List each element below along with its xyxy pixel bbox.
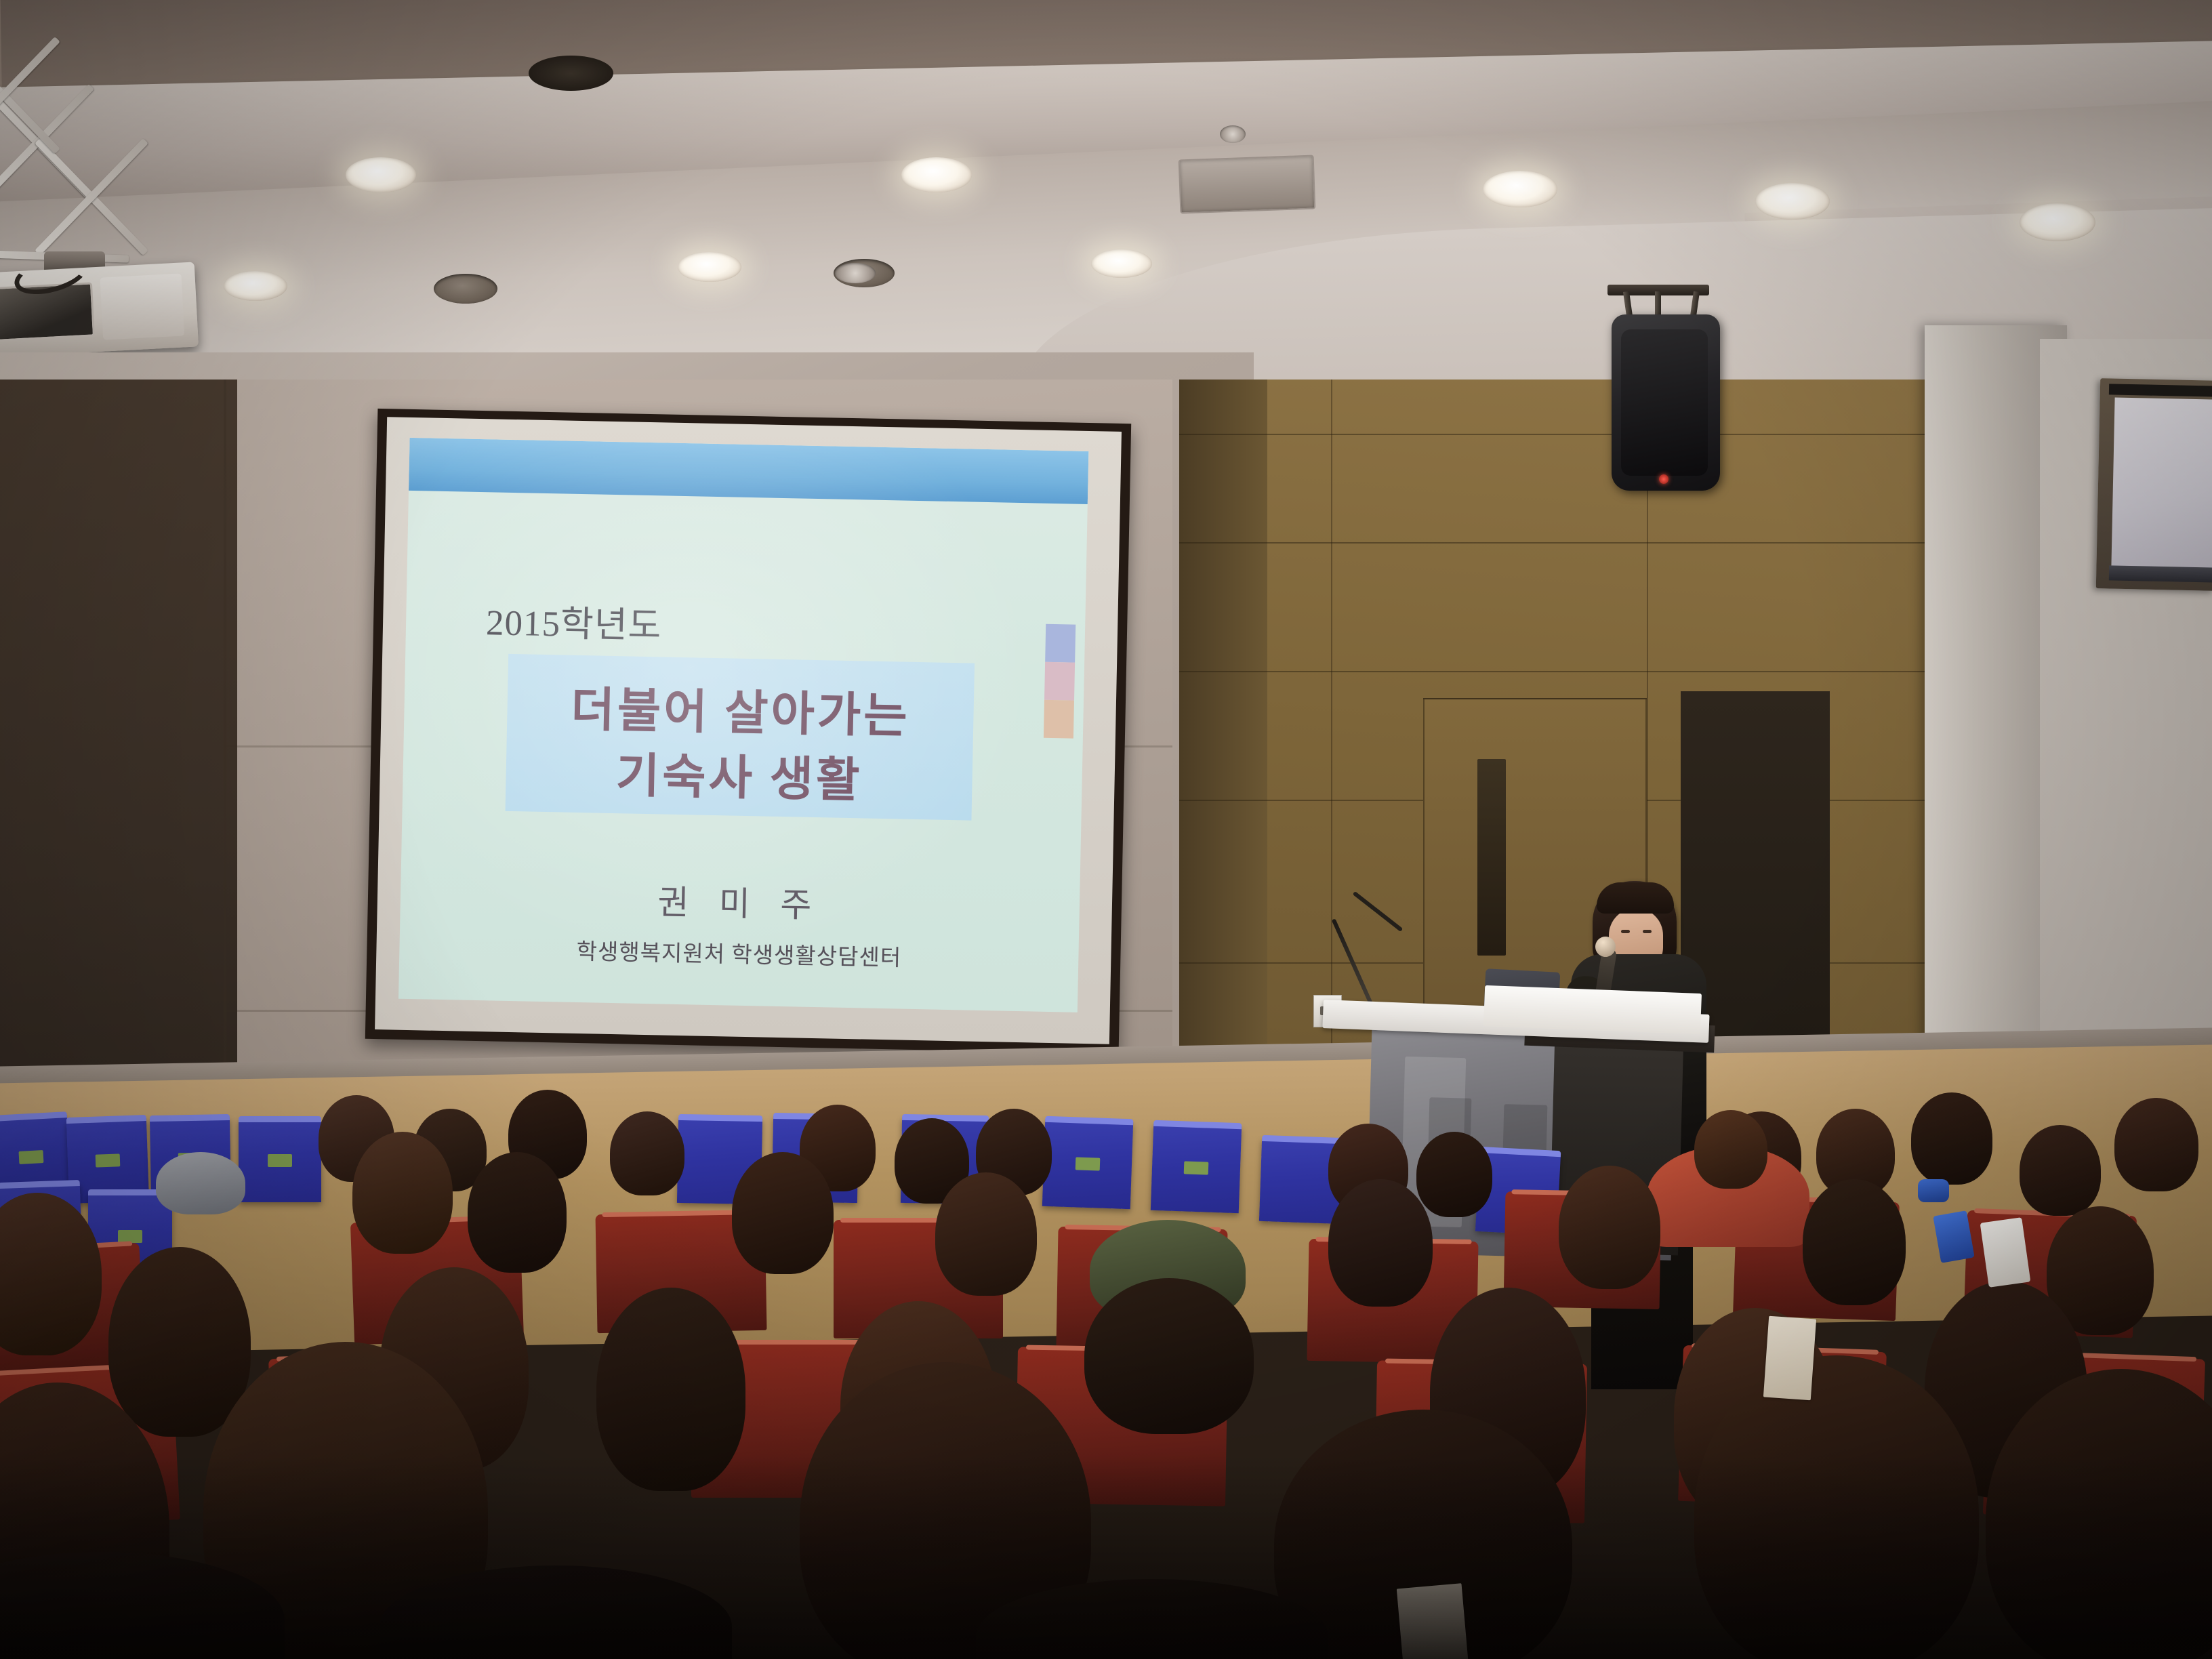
ceiling-light-off-icon [434,274,497,304]
podium-reading-ledge [1483,985,1702,1034]
slide-presenter-name: 권 미 주 [400,870,1080,933]
audience-head [1084,1278,1254,1434]
slide-year-label: 2015학년도 [485,594,662,649]
slide-affiliation: 학생행복지원처 학생생활상담센터 [399,930,1079,976]
ceiling-light-icon [2020,203,2095,241]
swatch-peach-icon [1044,700,1074,739]
audience-head [352,1132,453,1254]
audience-head [935,1172,1037,1296]
wall-seam-panel [224,380,226,1166]
sprinkler-head-icon [1220,125,1246,143]
wood-seam [1179,434,1979,435]
phone-screen[interactable] [1980,1217,2031,1288]
swatch-blue-icon [1045,624,1076,663]
audience-head-foreground [1694,1355,1979,1659]
projection-screen-surface: 2015학년도 더불어 살아가는 기숙사 생활 권 미 주 학생행복지원처 학생… [375,417,1122,1044]
hair-accessory [1918,1179,1949,1202]
door-window-icon [1477,759,1506,956]
wall-monitor-bottom-bezel [2109,565,2212,582]
wood-seam [1179,542,1979,544]
slide-title-line-2: 기숙사 생활 [506,735,973,813]
front-chair[interactable] [1151,1124,1242,1213]
audience-head [610,1111,684,1195]
audience-head [1694,1110,1767,1189]
handout-paper[interactable] [1763,1316,1816,1401]
wall-monitor-top-bezel [2109,384,2212,396]
speaker-eye-right [1643,930,1652,933]
ceiling-light-icon [678,252,741,282]
ceiling-light-icon [1483,171,1557,207]
projection-screen: 2015학년도 더불어 살아가는 기숙사 생활 권 미 주 학생행복지원처 학생… [365,409,1131,1054]
slide-title-box: 더불어 살아가는 기숙사 생활 [506,654,975,821]
audience-head [1328,1179,1433,1307]
wood-seam [1179,671,1979,672]
front-chair[interactable] [239,1120,321,1202]
audience-head [596,1288,745,1491]
speaker-eye-left [1621,930,1630,933]
projector-side-panel [100,273,185,340]
ceiling-light-icon [901,157,972,192]
ceiling-light-icon [1091,249,1152,278]
handout-paper[interactable] [1397,1583,1471,1659]
audience-head [2020,1125,2101,1216]
audience-head [108,1247,251,1437]
ceiling-recess-icon [529,56,613,91]
swatch-pink-icon [1044,662,1075,701]
speaker-bangs [1597,882,1674,914]
ceiling-vent-icon [1179,155,1316,214]
audience-head [2114,1098,2198,1191]
audience-head [468,1152,567,1273]
ceiling-light-icon [346,157,416,192]
slide-color-swatches [1044,624,1076,739]
ceiling-light-icon [1755,183,1830,220]
pa-speaker-grill-icon [1621,329,1708,476]
audience-head [1803,1179,1906,1305]
slide-body: 2015학년도 더불어 살아가는 기숙사 생활 권 미 주 학생행복지원처 학생… [398,491,1088,1012]
audience-head [732,1152,834,1274]
wall-monitor-screen[interactable] [2111,397,2212,569]
audience-head [1416,1132,1492,1217]
ceiling-projector [0,132,251,390]
audience-head [1559,1166,1660,1289]
front-chair[interactable] [1042,1120,1133,1209]
gray-cap-icon [156,1152,245,1214]
sprinkler-head-icon [835,263,876,283]
audience-head [1911,1092,1992,1185]
presentation-slide: 2015학년도 더불어 살아가는 기숙사 생활 권 미 주 학생행복지원처 학생… [398,438,1088,1012]
pa-speaker-power-led [1659,474,1668,484]
auditorium-photo: 2015학년도 더불어 살아가는 기숙사 생활 권 미 주 학생행복지원처 학생… [0,0,2212,1659]
